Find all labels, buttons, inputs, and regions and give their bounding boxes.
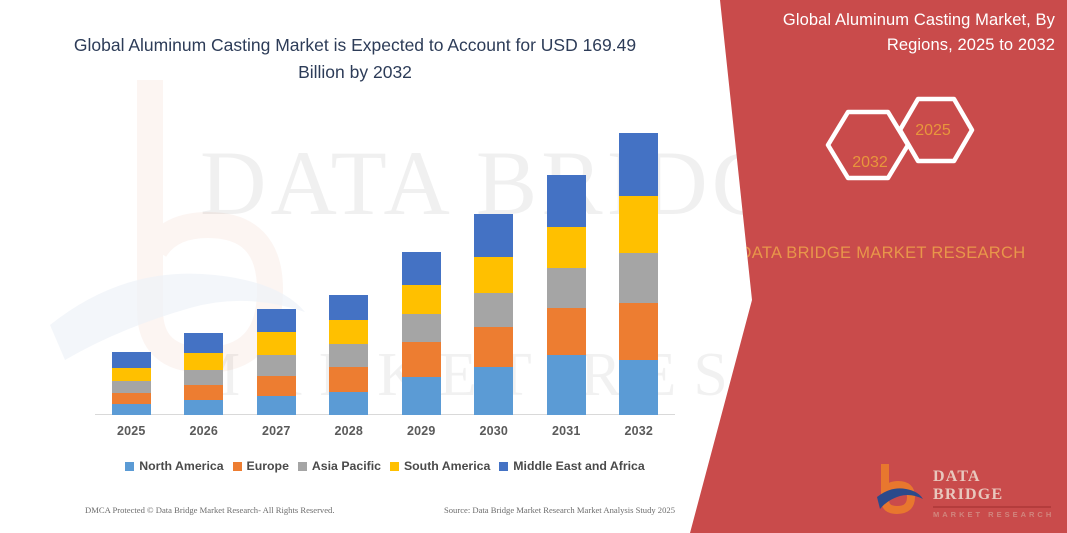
bar-group — [95, 352, 167, 415]
bar-group — [313, 295, 385, 415]
bar-segment — [184, 333, 223, 353]
x-axis-label: 2029 — [385, 424, 457, 438]
bar-segment — [474, 367, 513, 415]
bar-segment — [184, 370, 223, 385]
hexagon-label-end-year: 2032 — [840, 154, 900, 172]
bar-segment — [474, 293, 513, 327]
x-axis-label: 2025 — [95, 424, 167, 438]
data-bridge-logo-icon — [875, 464, 927, 514]
hexagon-group: 2025 2032 — [815, 90, 1005, 200]
bar-segment — [547, 175, 586, 227]
x-axis-label: 2027 — [240, 424, 312, 438]
bar-segment — [112, 352, 151, 368]
legend-item[interactable]: North America — [125, 459, 223, 473]
bar-segment — [619, 196, 658, 253]
bar-segment — [547, 227, 586, 268]
bar-segment — [547, 268, 586, 308]
footer: DMCA Protected © Data Bridge Market Rese… — [85, 505, 675, 515]
legend-swatch-icon — [125, 462, 134, 471]
x-axis-labels: 20252026202720282029203020312032 — [95, 424, 675, 444]
bar-segment — [402, 342, 441, 377]
logo-divider — [933, 506, 1051, 508]
bar-stack — [474, 214, 513, 415]
bar-group — [240, 309, 312, 415]
bar-group — [458, 214, 530, 415]
data-bridge-logo: DATA BRIDGE MARKET RESEARCH — [875, 462, 1055, 517]
right-side-panel: Global Aluminum Casting Market, By Regio… — [690, 0, 1067, 533]
footer-source: Source: Data Bridge Market Research Mark… — [444, 505, 675, 515]
legend-label: South America — [404, 459, 490, 473]
bar-segment — [402, 377, 441, 415]
legend-item[interactable]: Middle East and Africa — [499, 459, 644, 473]
legend-swatch-icon — [390, 462, 399, 471]
legend-label: Middle East and Africa — [513, 459, 644, 473]
bar-stack — [402, 252, 441, 415]
x-axis-label: 2032 — [603, 424, 675, 438]
infographic-root: DATA BRIDGE MARKET RESEARCH Global Alumi… — [0, 0, 1067, 533]
bar-segment — [112, 404, 151, 415]
footer-copyright: DMCA Protected © Data Bridge Market Rese… — [85, 505, 335, 515]
bar-segment — [329, 295, 368, 320]
bar-segment — [329, 392, 368, 415]
legend-label: North America — [139, 459, 223, 473]
bar-segment — [402, 285, 441, 314]
bar-segment — [547, 355, 586, 415]
bar-segment — [112, 381, 151, 393]
legend-item[interactable]: Europe — [233, 459, 289, 473]
bar-segment — [619, 303, 658, 360]
logo-title: DATA BRIDGE — [933, 468, 1055, 504]
x-axis-label: 2026 — [168, 424, 240, 438]
bar-segment — [184, 400, 223, 415]
panel-title: Global Aluminum Casting Market, By Regio… — [740, 8, 1055, 58]
bar-stack — [257, 309, 296, 415]
bar-stack — [619, 133, 658, 415]
bar-segment — [402, 252, 441, 285]
bar-stack — [547, 175, 586, 415]
hexagon-label-start-year: 2025 — [903, 122, 963, 140]
bar-segment — [402, 314, 441, 342]
chart-legend: North AmericaEuropeAsia PacificSouth Ame… — [95, 455, 675, 477]
bar-segment — [547, 308, 586, 355]
legend-swatch-icon — [499, 462, 508, 471]
bar-stack — [329, 295, 368, 415]
legend-label: Europe — [247, 459, 289, 473]
legend-swatch-icon — [298, 462, 307, 471]
bar-chart-plot — [95, 115, 675, 415]
x-axis-label: 2030 — [458, 424, 530, 438]
brand-name-text: DATA BRIDGE MARKET RESEARCH — [710, 240, 1055, 266]
legend-item[interactable]: Asia Pacific — [298, 459, 381, 473]
bar-segment — [619, 253, 658, 303]
page-title: Global Aluminum Casting Market is Expect… — [60, 32, 650, 86]
bar-segment — [184, 385, 223, 400]
bar-segment — [112, 393, 151, 404]
bar-group — [603, 133, 675, 415]
bar-stack — [112, 352, 151, 415]
bar-group — [385, 252, 457, 415]
x-axis-label: 2028 — [313, 424, 385, 438]
bar-segment — [474, 327, 513, 367]
legend-swatch-icon — [233, 462, 242, 471]
hexagon-shapes — [815, 90, 1005, 200]
legend-item[interactable]: South America — [390, 459, 490, 473]
bar-segment — [329, 344, 368, 367]
bar-segment — [112, 368, 151, 381]
bar-segment — [257, 309, 296, 332]
bar-segment — [257, 376, 296, 396]
chart-area: DATA BRIDGE MARKET RESEARCH Global Alumi… — [0, 0, 700, 533]
logo-subtitle: MARKET RESEARCH — [933, 510, 1055, 519]
bar-segment — [184, 353, 223, 370]
bar-stack — [184, 333, 223, 415]
bar-group — [530, 175, 602, 415]
bar-segment — [474, 257, 513, 293]
bar-segment — [474, 214, 513, 257]
bar-segment — [619, 133, 658, 196]
bar-group — [168, 333, 240, 415]
bar-segment — [257, 332, 296, 355]
bar-segment — [257, 396, 296, 415]
x-axis-label: 2031 — [530, 424, 602, 438]
bar-segment — [619, 360, 658, 415]
legend-label: Asia Pacific — [312, 459, 381, 473]
bar-segment — [329, 367, 368, 392]
bar-segment — [257, 355, 296, 376]
bar-segment — [329, 320, 368, 344]
